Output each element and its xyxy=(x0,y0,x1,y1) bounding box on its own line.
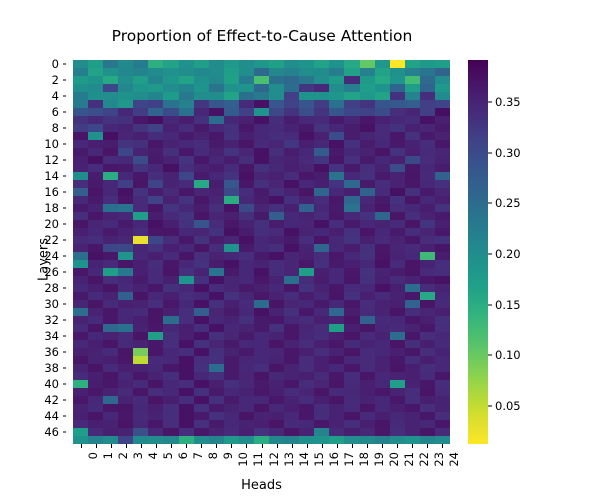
heatmap-cell xyxy=(88,108,103,116)
heatmap-cell xyxy=(435,76,450,84)
heatmap-cell xyxy=(103,228,118,236)
heatmap-cell xyxy=(133,412,148,420)
heatmap-cell xyxy=(254,436,269,444)
heatmap-cell xyxy=(133,76,148,84)
heatmap-cell xyxy=(103,348,118,356)
heatmap-cell xyxy=(254,244,269,252)
heatmap-cell xyxy=(88,284,103,292)
heatmap-axes[interactable] xyxy=(73,60,450,444)
heatmap-cell xyxy=(133,372,148,380)
heatmap-cell xyxy=(299,124,314,132)
heatmap-cell xyxy=(163,380,178,388)
x-tick-label: 8 xyxy=(206,452,220,459)
heatmap-cell xyxy=(73,68,88,76)
heatmap-cell xyxy=(224,180,239,188)
heatmap-cell xyxy=(148,252,163,260)
heatmap-cell xyxy=(194,252,209,260)
x-tick-label: 20 xyxy=(387,452,401,467)
heatmap-cell xyxy=(284,236,299,244)
heatmap-cell xyxy=(420,220,435,228)
heatmap-cell xyxy=(88,252,103,260)
heatmap-cell xyxy=(73,268,88,276)
heatmap-cell xyxy=(179,84,194,92)
heatmap-cell xyxy=(299,308,314,316)
x-tick-mark xyxy=(412,444,413,448)
heatmap-cell xyxy=(209,396,224,404)
heatmap-cell xyxy=(103,244,118,252)
heatmap-cell xyxy=(73,92,88,100)
heatmap-cell xyxy=(435,60,450,68)
heatmap-cell xyxy=(254,316,269,324)
heatmap-cell xyxy=(299,396,314,404)
heatmap-cell xyxy=(148,196,163,204)
heatmap-cell xyxy=(284,340,299,348)
heatmap-cell xyxy=(314,340,329,348)
heatmap-cell xyxy=(269,380,284,388)
heatmap-cell xyxy=(390,348,405,356)
heatmap-cell xyxy=(435,116,450,124)
heatmap-cell xyxy=(269,116,284,124)
heatmap-cell xyxy=(420,436,435,444)
heatmap-cell xyxy=(88,356,103,364)
heatmap-cell xyxy=(88,316,103,324)
heatmap-cell xyxy=(269,148,284,156)
heatmap-cell xyxy=(224,188,239,196)
heatmap-cell xyxy=(73,340,88,348)
heatmap-cell xyxy=(179,164,194,172)
heatmap-cell xyxy=(299,324,314,332)
figure-canvas: Proportion of Effect-to-Cause Attention … xyxy=(0,0,600,500)
heatmap-cell xyxy=(299,380,314,388)
heatmap-cell xyxy=(239,284,254,292)
heatmap-cell xyxy=(209,172,224,180)
heatmap-cell xyxy=(390,428,405,436)
heatmap-cell xyxy=(390,180,405,188)
heatmap-cell xyxy=(299,316,314,324)
heatmap-cell xyxy=(435,148,450,156)
heatmap-cell xyxy=(73,420,88,428)
heatmap-cell xyxy=(148,148,163,156)
heatmap-cell xyxy=(390,380,405,388)
heatmap-cell xyxy=(390,324,405,332)
heatmap-cell xyxy=(103,100,118,108)
heatmap-cell xyxy=(163,84,178,92)
heatmap-cell xyxy=(269,388,284,396)
heatmap-cell xyxy=(299,300,314,308)
heatmap-cell xyxy=(239,324,254,332)
heatmap-cell xyxy=(329,68,344,76)
heatmap-cell xyxy=(254,268,269,276)
heatmap-cell xyxy=(329,364,344,372)
heatmap-cell xyxy=(375,148,390,156)
heatmap-cell xyxy=(118,292,133,300)
heatmap-cell xyxy=(375,268,390,276)
heatmap-cell xyxy=(254,148,269,156)
heatmap-cell xyxy=(118,356,133,364)
heatmap-cell xyxy=(88,420,103,428)
heatmap-cell xyxy=(269,292,284,300)
heatmap-cell xyxy=(88,340,103,348)
heatmap-cell xyxy=(209,412,224,420)
heatmap-cell xyxy=(269,84,284,92)
heatmap-cell xyxy=(163,108,178,116)
heatmap-cell xyxy=(375,260,390,268)
heatmap-cell xyxy=(329,84,344,92)
heatmap-cell xyxy=(254,260,269,268)
colorbar-tick-label: 0.30 xyxy=(495,146,521,160)
heatmap-cell xyxy=(148,164,163,172)
heatmap-cell xyxy=(360,252,375,260)
heatmap-cell xyxy=(390,252,405,260)
heatmap-cell xyxy=(209,84,224,92)
heatmap-cell xyxy=(360,356,375,364)
heatmap-cell xyxy=(194,164,209,172)
heatmap-cell xyxy=(360,396,375,404)
heatmap-cell xyxy=(73,316,88,324)
heatmap-cell xyxy=(390,164,405,172)
heatmap-cell xyxy=(194,332,209,340)
heatmap-cell xyxy=(375,212,390,220)
y-tick-mark xyxy=(63,400,67,401)
heatmap-cell xyxy=(239,172,254,180)
heatmap-cell xyxy=(435,316,450,324)
heatmap-cell xyxy=(329,436,344,444)
heatmap-cell xyxy=(284,204,299,212)
heatmap-cell xyxy=(390,236,405,244)
heatmap-cell xyxy=(133,356,148,364)
heatmap-cell xyxy=(239,212,254,220)
heatmap-cell xyxy=(375,236,390,244)
heatmap-cell xyxy=(163,124,178,132)
heatmap-cell xyxy=(194,100,209,108)
heatmap-cell xyxy=(299,220,314,228)
heatmap-cell xyxy=(209,388,224,396)
colorbar-tick-label: 0.10 xyxy=(495,348,521,362)
heatmap-cell xyxy=(73,428,88,436)
heatmap-cell xyxy=(239,396,254,404)
heatmap-cell xyxy=(435,356,450,364)
heatmap-cell xyxy=(435,252,450,260)
heatmap-cell xyxy=(118,348,133,356)
heatmap-cell xyxy=(73,164,88,172)
heatmap-cell xyxy=(73,436,88,444)
heatmap-cell xyxy=(314,228,329,236)
heatmap-cell xyxy=(314,244,329,252)
y-tick-mark xyxy=(63,208,67,209)
heatmap-cell xyxy=(163,148,178,156)
heatmap-cell xyxy=(239,364,254,372)
heatmap-cell xyxy=(360,132,375,140)
heatmap-cell xyxy=(103,172,118,180)
heatmap-cell xyxy=(73,356,88,364)
heatmap-cell xyxy=(118,76,133,84)
heatmap-cell xyxy=(209,180,224,188)
heatmap-cell xyxy=(329,108,344,116)
heatmap-cell xyxy=(88,236,103,244)
heatmap-cell xyxy=(194,372,209,380)
heatmap-cell xyxy=(254,236,269,244)
heatmap-cell xyxy=(254,412,269,420)
heatmap-cell xyxy=(194,76,209,84)
heatmap-cell xyxy=(269,164,284,172)
x-tick-mark xyxy=(156,444,157,448)
heatmap-cell xyxy=(420,428,435,436)
heatmap-cell xyxy=(299,276,314,284)
y-tick-mark xyxy=(63,272,67,273)
x-tick-mark xyxy=(96,444,97,448)
heatmap-cell xyxy=(209,148,224,156)
heatmap-cell xyxy=(314,172,329,180)
heatmap-cell xyxy=(118,188,133,196)
heatmap-cell xyxy=(360,324,375,332)
heatmap-cell xyxy=(375,372,390,380)
heatmap-cell xyxy=(344,292,359,300)
colorbar-tick-mark xyxy=(488,152,492,153)
heatmap-cell xyxy=(375,164,390,172)
heatmap-cell xyxy=(344,84,359,92)
heatmap-cell xyxy=(254,180,269,188)
heatmap-cell xyxy=(375,356,390,364)
heatmap-cell xyxy=(405,332,420,340)
heatmap-cell xyxy=(299,260,314,268)
heatmap-cell xyxy=(254,76,269,84)
heatmap-cell xyxy=(254,100,269,108)
x-tick-mark xyxy=(262,444,263,448)
heatmap-cell xyxy=(163,316,178,324)
heatmap-cell xyxy=(179,388,194,396)
heatmap-cell xyxy=(88,188,103,196)
heatmap-cell xyxy=(133,140,148,148)
heatmap-cell xyxy=(88,348,103,356)
heatmap-cell xyxy=(390,220,405,228)
heatmap-cell xyxy=(88,60,103,68)
heatmap-cell xyxy=(133,204,148,212)
heatmap-cell xyxy=(284,172,299,180)
heatmap-cell xyxy=(344,156,359,164)
x-tick-mark xyxy=(186,444,187,448)
heatmap-cell xyxy=(118,236,133,244)
heatmap-cell xyxy=(360,420,375,428)
heatmap-cell xyxy=(148,332,163,340)
heatmap-cell xyxy=(133,380,148,388)
heatmap-cell xyxy=(194,292,209,300)
heatmap-cell xyxy=(133,180,148,188)
heatmap-cell xyxy=(209,420,224,428)
heatmap-cell xyxy=(118,420,133,428)
heatmap-cell xyxy=(239,124,254,132)
heatmap-cell xyxy=(329,228,344,236)
heatmap-cell xyxy=(284,308,299,316)
heatmap-cell xyxy=(148,188,163,196)
heatmap-cell xyxy=(209,268,224,276)
heatmap-cell xyxy=(103,188,118,196)
heatmap-cell xyxy=(375,396,390,404)
heatmap-cell xyxy=(284,84,299,92)
heatmap-cell xyxy=(344,172,359,180)
heatmap-cell xyxy=(405,188,420,196)
heatmap-cell xyxy=(118,68,133,76)
heatmap-cell xyxy=(390,228,405,236)
heatmap-cell xyxy=(299,164,314,172)
heatmap-cell xyxy=(390,188,405,196)
heatmap-cell xyxy=(133,308,148,316)
heatmap-cell xyxy=(209,284,224,292)
heatmap-cell xyxy=(360,148,375,156)
heatmap-cell xyxy=(194,212,209,220)
heatmap-cell xyxy=(179,372,194,380)
heatmap-cell xyxy=(239,292,254,300)
heatmap-cell xyxy=(269,228,284,236)
heatmap-cell xyxy=(299,364,314,372)
y-tick-label: 4 xyxy=(52,89,59,103)
heatmap-cell xyxy=(179,92,194,100)
x-tick-mark xyxy=(216,444,217,448)
heatmap-cell xyxy=(118,324,133,332)
heatmap-cell xyxy=(239,204,254,212)
heatmap-cell xyxy=(344,180,359,188)
heatmap-cell xyxy=(375,100,390,108)
heatmap-cell xyxy=(179,132,194,140)
heatmap-cell xyxy=(163,340,178,348)
heatmap-cell xyxy=(299,428,314,436)
heatmap-cell xyxy=(299,100,314,108)
heatmap-cell xyxy=(103,140,118,148)
heatmap-cell xyxy=(88,276,103,284)
heatmap-cell xyxy=(314,84,329,92)
heatmap-cell xyxy=(405,428,420,436)
heatmap-cell xyxy=(163,164,178,172)
heatmap-cell xyxy=(148,228,163,236)
heatmap-cell xyxy=(88,180,103,188)
heatmap-cell xyxy=(118,316,133,324)
heatmap-cell xyxy=(299,60,314,68)
heatmap-cell xyxy=(179,228,194,236)
heatmap-cell xyxy=(284,436,299,444)
heatmap-cell xyxy=(390,76,405,84)
heatmap-cell xyxy=(344,164,359,172)
heatmap-cell xyxy=(224,436,239,444)
heatmap-cell xyxy=(103,428,118,436)
heatmap-cell xyxy=(179,332,194,340)
heatmap-cell xyxy=(299,292,314,300)
heatmap-cell xyxy=(73,100,88,108)
heatmap-cell xyxy=(375,380,390,388)
heatmap-cell xyxy=(420,396,435,404)
x-tick-mark xyxy=(111,444,112,448)
heatmap-cell xyxy=(269,364,284,372)
heatmap-cell xyxy=(73,276,88,284)
x-tick-label: 19 xyxy=(372,452,386,467)
heatmap-cell xyxy=(179,180,194,188)
heatmap-cell xyxy=(284,180,299,188)
heatmap-cell xyxy=(360,404,375,412)
heatmap-cell xyxy=(88,124,103,132)
heatmap-cell xyxy=(405,116,420,124)
x-tick-mark xyxy=(352,444,353,448)
heatmap-cell xyxy=(284,428,299,436)
heatmap-cell xyxy=(435,420,450,428)
heatmap-cell xyxy=(118,396,133,404)
heatmap-cell xyxy=(239,220,254,228)
heatmap-cell xyxy=(314,404,329,412)
heatmap-cell xyxy=(420,172,435,180)
heatmap-cell xyxy=(284,372,299,380)
heatmap-cell xyxy=(103,220,118,228)
heatmap-cell xyxy=(73,172,88,180)
heatmap-cell xyxy=(88,260,103,268)
heatmap-cell xyxy=(284,244,299,252)
heatmap-cell xyxy=(420,164,435,172)
heatmap-cell xyxy=(284,388,299,396)
heatmap-cell xyxy=(360,428,375,436)
heatmap-cell xyxy=(133,420,148,428)
heatmap-cell xyxy=(118,388,133,396)
heatmap-cell xyxy=(390,212,405,220)
heatmap-cell xyxy=(329,244,344,252)
heatmap-cell xyxy=(360,348,375,356)
heatmap-cell xyxy=(284,332,299,340)
colorbar[interactable] xyxy=(468,60,488,444)
heatmap-cell xyxy=(103,196,118,204)
heatmap-cell xyxy=(133,324,148,332)
heatmap-cell xyxy=(239,300,254,308)
x-tick-label: 9 xyxy=(221,452,235,459)
heatmap-cell xyxy=(269,348,284,356)
heatmap-cell xyxy=(224,380,239,388)
heatmap-cell xyxy=(269,412,284,420)
heatmap-cell xyxy=(133,292,148,300)
heatmap-cell xyxy=(118,196,133,204)
heatmap-cell xyxy=(103,284,118,292)
heatmap-cell xyxy=(73,244,88,252)
heatmap-cell xyxy=(133,164,148,172)
heatmap-cell xyxy=(254,276,269,284)
heatmap-cell xyxy=(269,92,284,100)
x-tick-mark xyxy=(382,444,383,448)
heatmap-cell xyxy=(88,404,103,412)
heatmap-cell xyxy=(254,420,269,428)
heatmap-cell xyxy=(314,108,329,116)
heatmap-cell xyxy=(390,276,405,284)
heatmap-cell xyxy=(390,372,405,380)
heatmap-cell xyxy=(375,348,390,356)
heatmap-cell xyxy=(254,396,269,404)
heatmap-cell xyxy=(224,420,239,428)
heatmap-cell xyxy=(118,252,133,260)
heatmap-cell xyxy=(375,132,390,140)
heatmap-cell xyxy=(239,108,254,116)
heatmap-cell xyxy=(148,404,163,412)
heatmap-cell xyxy=(314,164,329,172)
heatmap-cell xyxy=(239,244,254,252)
heatmap-cell xyxy=(194,84,209,92)
heatmap-cell xyxy=(344,220,359,228)
y-tick-mark xyxy=(63,80,67,81)
heatmap-cell xyxy=(133,316,148,324)
heatmap-cell xyxy=(329,188,344,196)
heatmap-cell xyxy=(405,236,420,244)
y-tick-mark xyxy=(63,224,67,225)
heatmap-cell xyxy=(179,68,194,76)
heatmap-cell xyxy=(88,436,103,444)
heatmap-cell xyxy=(194,284,209,292)
heatmap-cell xyxy=(329,388,344,396)
heatmap-cell xyxy=(269,332,284,340)
heatmap-cell xyxy=(88,156,103,164)
heatmap-cell xyxy=(254,84,269,92)
heatmap-cell xyxy=(435,196,450,204)
heatmap-cell xyxy=(254,108,269,116)
